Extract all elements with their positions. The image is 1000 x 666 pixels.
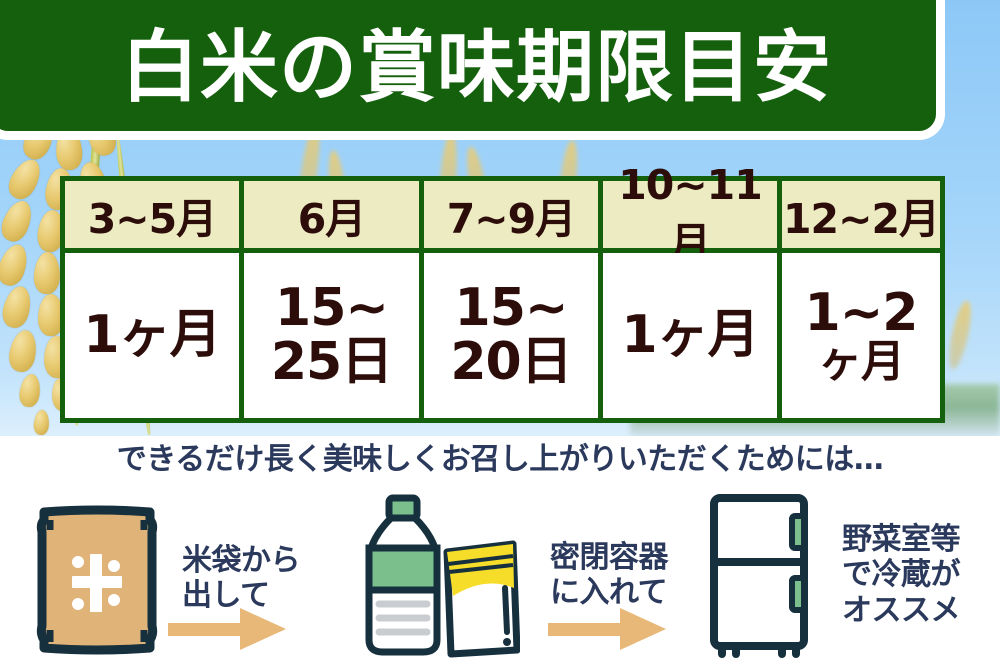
table-value-cell: 1~2 ヶ月 [782,253,940,418]
storage-steps: 米袋から 出して [0,484,1000,666]
table-value-cell: 15~ 20日 [424,253,598,418]
table-header-cell: 10~11月 [603,181,777,248]
value-line-2: 25日 [271,336,392,389]
title-banner: 白米の賞味期限目安 [0,0,945,140]
step-label-line1: 密閉容器 [550,540,668,575]
value-line-1: 15~ [450,282,571,335]
step-label: 密閉容器 に入れて [550,540,668,611]
value-line-2: 20日 [450,336,571,389]
background-ear [945,299,975,371]
value-line-1: 15~ [271,282,392,335]
table-value-cell: 1ヶ月 [65,253,239,418]
refrigerator-icon [706,492,816,658]
table-value-cell: 1ヶ月 [603,253,777,418]
table-header-cell: 3~5月 [65,181,239,248]
page-title: 白米の賞味期限目安 [95,15,832,107]
step-label-line2: で冷蔵が [842,557,960,592]
table-header-cell: 12~2月 [782,181,940,248]
table-header-row: 3~5月 6月 7~9月 10~11月 12~2月 [65,181,940,248]
step-label-line1: 野菜室等 [842,522,960,557]
step-label: 野菜室等 で冷蔵が オススメ [842,522,960,628]
value-line-1: 1ヶ月 [83,309,220,362]
value-line-1: 1~2 [805,287,918,340]
table-header-cell: 7~9月 [424,181,598,248]
rice-bag-icon [34,500,160,656]
value-line-1: 1ヶ月 [621,309,758,362]
step-refrigerate: 野菜室等 で冷蔵が オススメ [706,492,960,658]
table-value-cell: 15~ 25日 [244,253,419,418]
table-value-row: 1ヶ月 15~ 25日 15~ 20日 1ヶ月 [65,253,940,418]
airtight-container-icon [355,492,520,658]
lead-in-text: できるだけ長く美味しくお召し上がりいただくためには… [0,434,1000,478]
step-label-line2: に入れて [550,575,668,610]
poster-root: 白米の賞味期限目安 3~5月 6月 7~9月 10~11月 12~2月 1ヶ月 … [0,0,1000,666]
shelf-life-table: 3~5月 6月 7~9月 10~11月 12~2月 1ヶ月 15~ 25日 15… [60,176,945,423]
value-line-2: ヶ月 [805,340,918,385]
arrow-icon-2 [548,608,668,650]
step-label-line1: 米袋から [182,543,300,578]
step-label-line3: オススメ [842,593,960,628]
step-label: 米袋から 出して [182,543,300,614]
table-header-cell: 6月 [244,181,419,248]
arrow-icon-1 [168,608,288,650]
